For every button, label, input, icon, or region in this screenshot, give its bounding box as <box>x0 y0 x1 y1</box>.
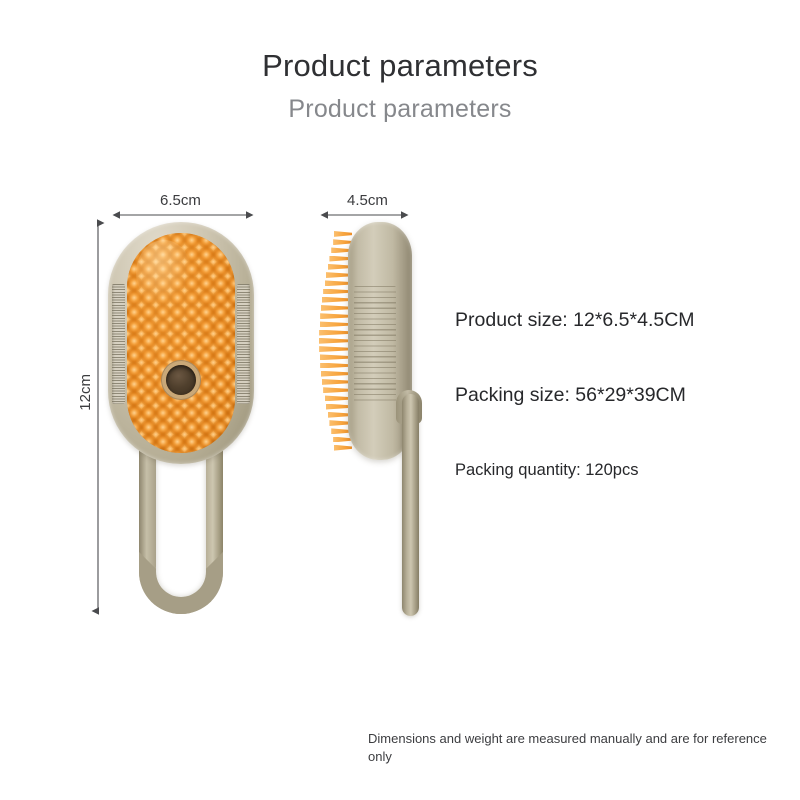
brush-nubs-texture <box>127 233 235 453</box>
brush-center-hole <box>166 365 196 395</box>
brush-side-handle-stem <box>402 394 419 616</box>
product-parameters-page: Product parameters Product parameters 6.… <box>0 0 800 800</box>
product-front-view <box>108 222 254 622</box>
brush-bristles <box>318 230 352 452</box>
spec-product-size: Product size: 12*6.5*4.5CM <box>455 309 695 332</box>
spec-packing-size: Packing size: 56*29*39CM <box>455 384 686 407</box>
comb-teeth-left-icon <box>112 284 125 404</box>
brush-side-ribs-texture <box>354 286 396 402</box>
dimension-arrow-front-height-icon <box>90 216 106 618</box>
spec-packing-quantity: Packing quantity: 120pcs <box>455 461 638 480</box>
product-side-view <box>318 222 428 622</box>
brush-silicone-pad <box>127 233 235 453</box>
page-subtitle: Product parameters <box>0 95 800 124</box>
page-title: Product parameters <box>0 48 800 84</box>
bristle <box>334 231 352 237</box>
brush-head-frame <box>108 222 254 464</box>
comb-teeth-right-icon <box>237 284 250 404</box>
disclaimer-text: Dimensions and weight are measured manua… <box>368 730 778 765</box>
bristle <box>334 445 352 451</box>
